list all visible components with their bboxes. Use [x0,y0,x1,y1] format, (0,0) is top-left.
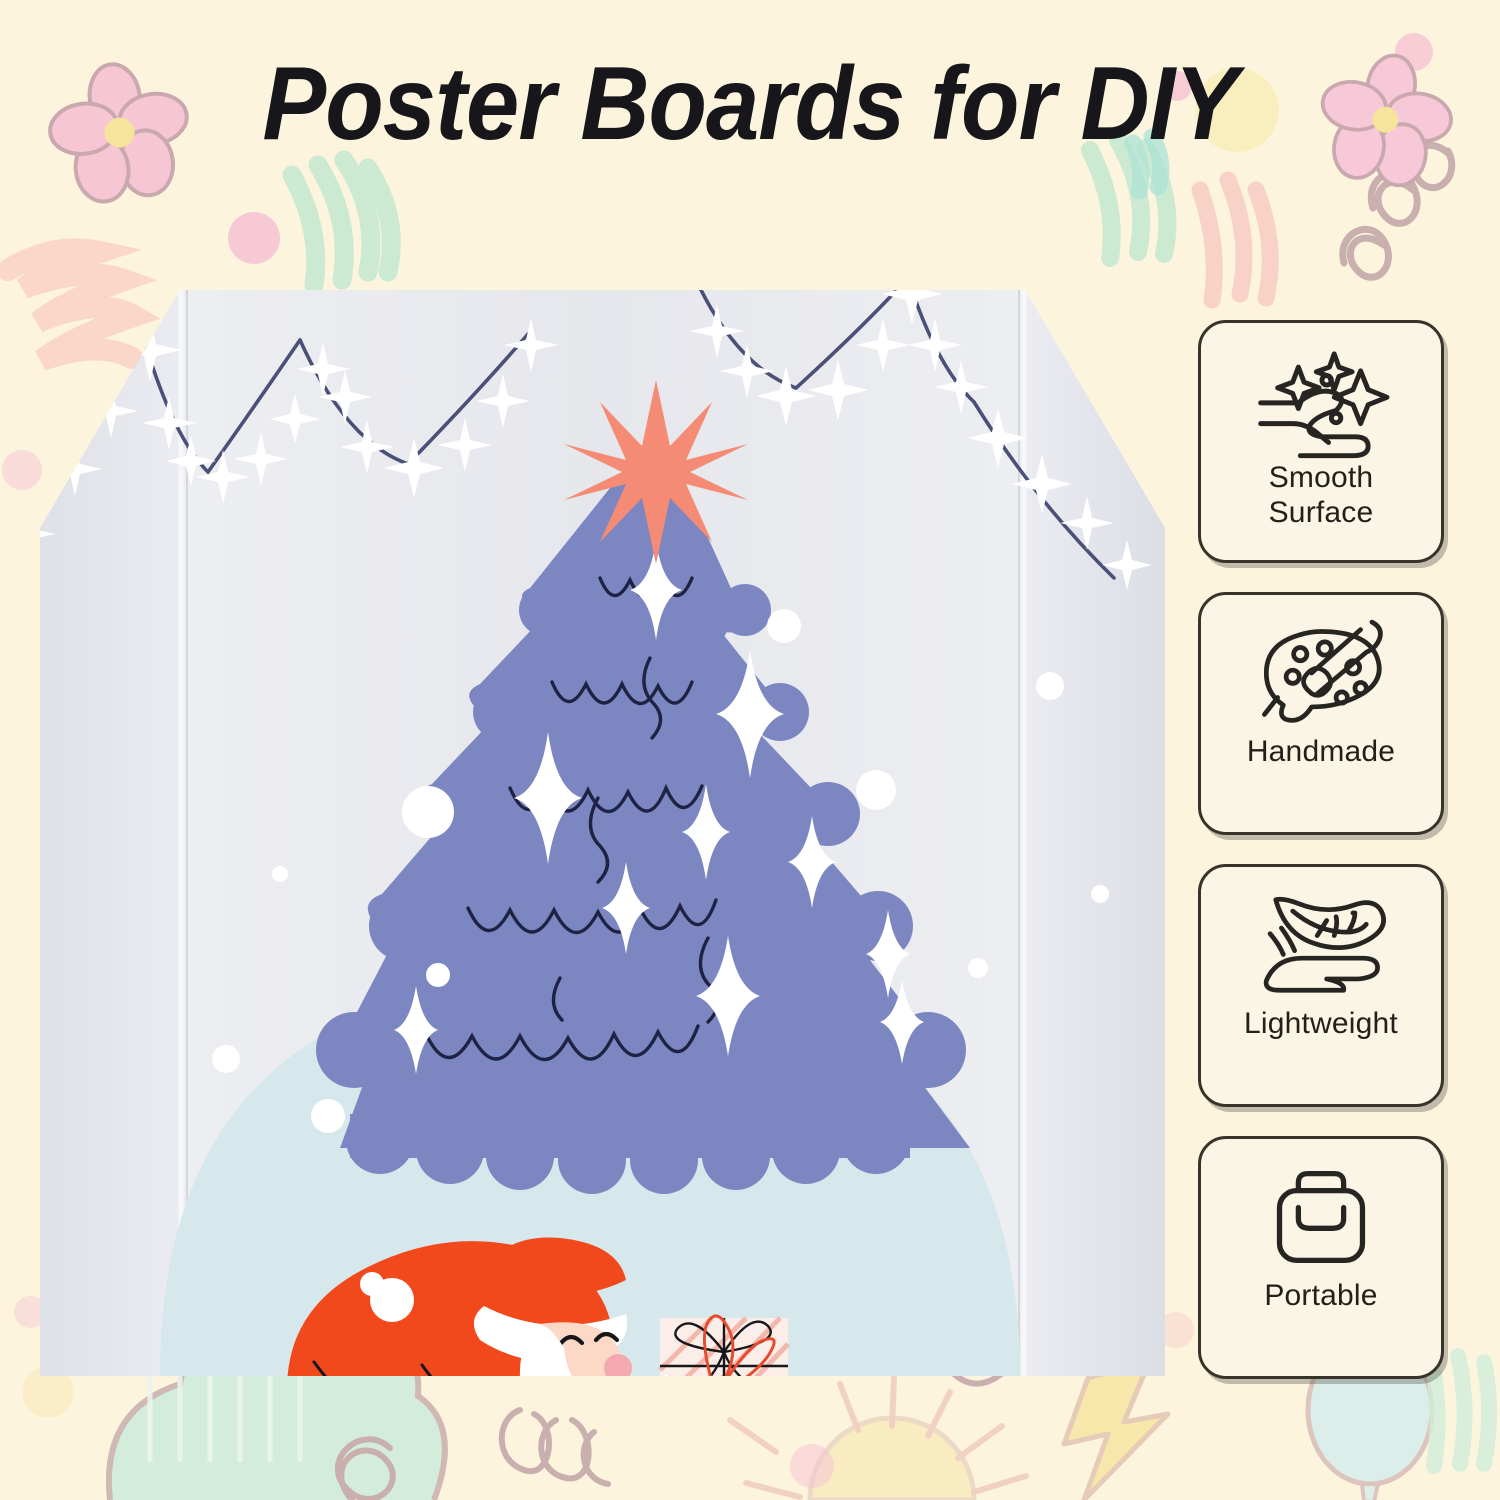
lightning-bolt-doodle [1064,1360,1168,1500]
dot-doodle [790,1444,834,1488]
feature-card-portable[interactable]: Portable [1198,1136,1444,1379]
spiral-loop-doodle [1343,145,1452,277]
feature-label-line1: Smooth [1269,461,1374,494]
page-title: Poster Boards for DIY [263,52,1238,156]
palette-brush-icon [1255,617,1387,729]
hand-sparkle-icon [1255,345,1387,457]
spiral-loop-doodle [338,1439,393,1500]
gift-box-striped [660,1318,788,1376]
sun-doodle [730,1378,1026,1500]
feature-card-lightweight[interactable]: Lightweight [1198,864,1444,1107]
poster-board-illustration [40,278,1165,1376]
feature-card-smooth-surface[interactable]: Smooth Surface [1198,320,1444,563]
scribble-patch-doodle [292,160,391,285]
poster-board-product [40,278,1165,1376]
dot-doodle [228,212,280,264]
feature-label-line2: Surface [1269,496,1374,529]
feature-badge-list: Smooth Surface Handmade [1198,320,1456,1379]
feature-card-handmade[interactable]: Handmade [1198,592,1444,835]
feather-hand-icon [1255,889,1387,1001]
title-bar: Poster Boards for DIY [0,52,1500,156]
feature-label: Smooth Surface [1261,461,1382,531]
feature-label: Handmade [1239,735,1403,770]
scribble-patch-doodle [1200,180,1270,300]
feature-label: Portable [1256,1279,1385,1314]
dot-doodle [2,450,42,490]
feature-label: Lightweight [1236,1007,1406,1042]
briefcase-icon [1255,1161,1387,1273]
